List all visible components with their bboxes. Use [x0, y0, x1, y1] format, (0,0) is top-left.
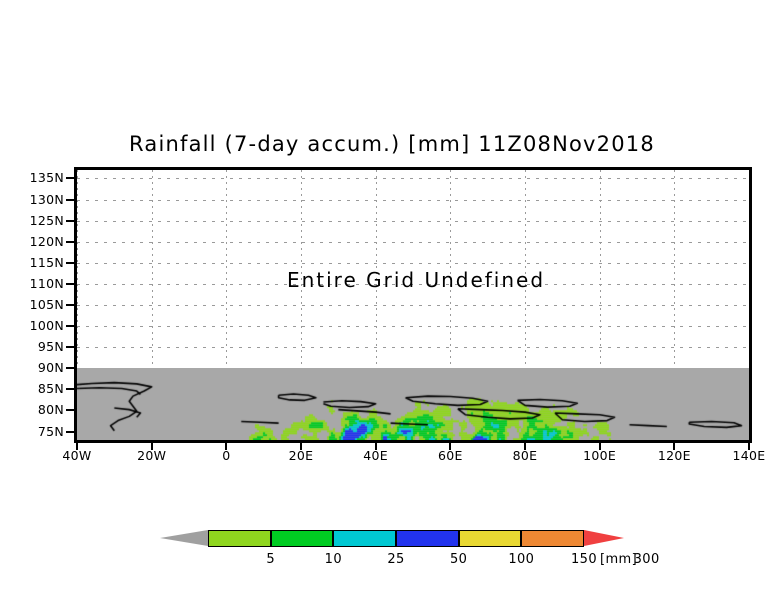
x-tick-mark-100E [599, 443, 601, 450]
y-tick-mark-130N [66, 199, 74, 201]
x-tick-label-140E: 140E [719, 448, 779, 463]
y-tick-mark-85N [66, 388, 74, 390]
y-tick-label-80N: 80N [14, 402, 64, 417]
y-tick-mark-125N [66, 220, 74, 222]
colorbar-tick-25: 25 [366, 552, 426, 567]
colorbar-segment-5-10 [208, 530, 271, 547]
y-tick-label-135N: 135N [14, 170, 64, 185]
undefined-grid-message: Entire Grid Undefined [77, 268, 752, 292]
y-tick-label-90N: 90N [14, 360, 64, 375]
x-tick-mark-140E [748, 443, 750, 450]
x-tick-label-0: 0 [196, 448, 256, 463]
y-tick-mark-75N [66, 431, 74, 433]
x-tick-mark-20E [300, 443, 302, 450]
x-tick-label-20E: 20E [271, 448, 331, 463]
x-tick-label-60E: 60E [420, 448, 480, 463]
y-tick-label-85N: 85N [14, 381, 64, 396]
x-tick-label-120E: 120E [644, 448, 704, 463]
y-tick-mark-105N [66, 304, 74, 306]
y-tick-label-120N: 120N [14, 234, 64, 249]
colorbar-segment-10-25 [271, 530, 334, 547]
x-tick-mark-120E [673, 443, 675, 450]
x-tick-mark-60E [449, 443, 451, 450]
page-title: Rainfall (7-day accum.) [mm] 11Z08Nov201… [0, 132, 784, 156]
y-tick-label-130N: 130N [14, 192, 64, 207]
y-tick-mark-90N [66, 367, 74, 369]
colorbar-segment-25-50 [333, 530, 396, 547]
y-tick-label-125N: 125N [14, 213, 64, 228]
colorbar-arrow-under-5 [160, 530, 208, 546]
x-tick-mark-20W [151, 443, 153, 450]
y-tick-label-105N: 105N [14, 297, 64, 312]
y-tick-mark-115N [66, 262, 74, 264]
y-tick-mark-95N [66, 346, 74, 348]
x-tick-mark-40W [76, 443, 78, 450]
colorbar-segment-50-100 [396, 530, 459, 547]
y-tick-mark-120N [66, 241, 74, 243]
colorbar-tick-100: 100 [491, 552, 551, 567]
x-tick-label-40E: 40E [346, 448, 406, 463]
x-tick-label-40W: 40W [47, 448, 107, 463]
colorbar: [mm] 5102550100150300 [0, 520, 784, 580]
rainfall-raster [77, 170, 749, 440]
x-tick-label-80E: 80E [495, 448, 555, 463]
colorbar-tick-150: 150 [554, 552, 614, 567]
y-tick-label-110N: 110N [14, 276, 64, 291]
y-tick-label-115N: 115N [14, 255, 64, 270]
plot-inner: Entire Grid Undefined [77, 170, 749, 440]
colorbar-segment-100-150 [459, 530, 522, 547]
x-tick-mark-0 [225, 443, 227, 450]
colorbar-tick-10: 10 [303, 552, 363, 567]
y-tick-label-100N: 100N [14, 318, 64, 333]
y-tick-mark-135N [66, 177, 74, 179]
colorbar-tick-5: 5 [241, 552, 301, 567]
colorbar-tick-300: 300 [617, 552, 677, 567]
gridline-vertical-140E [749, 170, 750, 440]
y-tick-mark-110N [66, 283, 74, 285]
y-tick-mark-80N [66, 409, 74, 411]
colorbar-tick-50: 50 [429, 552, 489, 567]
y-tick-label-95N: 95N [14, 339, 64, 354]
y-tick-mark-100N [66, 325, 74, 327]
x-tick-label-20W: 20W [122, 448, 182, 463]
colorbar-arrow-over-300 [584, 530, 624, 546]
y-tick-label-75N: 75N [14, 424, 64, 439]
x-tick-mark-80E [524, 443, 526, 450]
x-tick-mark-40E [375, 443, 377, 450]
plot-area: Entire Grid Undefined [74, 167, 752, 443]
x-tick-label-100E: 100E [570, 448, 630, 463]
colorbar-segment-150-300 [521, 530, 584, 547]
